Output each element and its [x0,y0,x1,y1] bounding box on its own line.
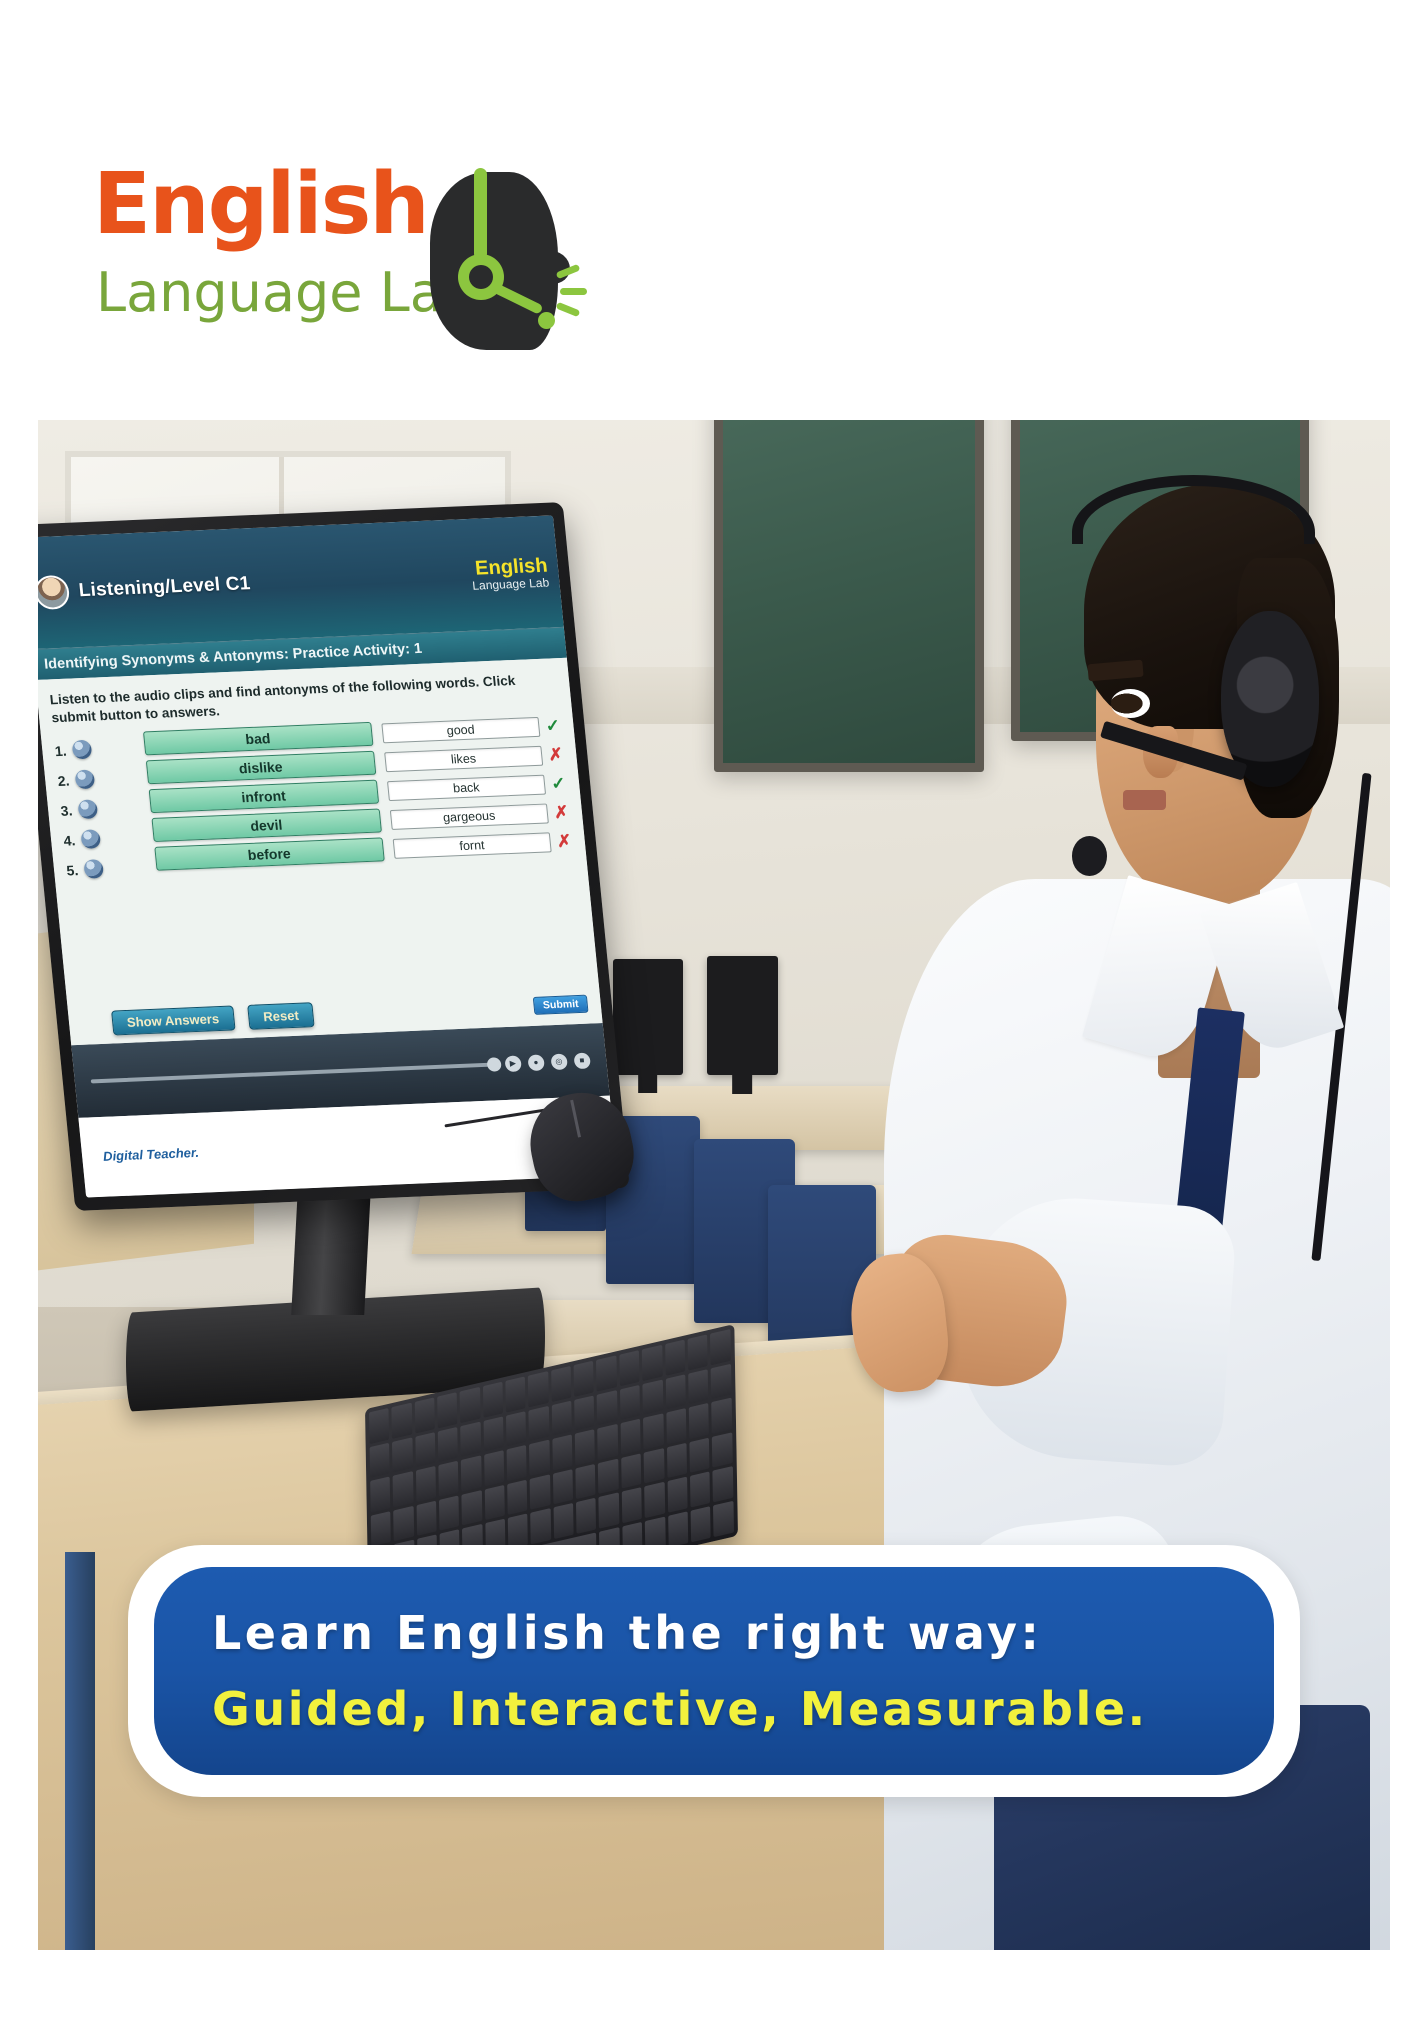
key[interactable] [643,1379,663,1415]
cross-icon: ✗ [556,831,573,852]
headset-headband-icon [1072,475,1315,544]
key[interactable] [530,1474,550,1510]
headset-head-icon [430,172,558,350]
question-number: 5. [66,862,79,878]
key[interactable] [529,1371,549,1407]
key[interactable] [369,1407,389,1443]
key[interactable] [529,1405,549,1441]
key[interactable] [438,1392,458,1428]
show-answers-button[interactable]: Show Answers [111,1006,236,1036]
answer-row: fornt ✗ [392,831,572,858]
key[interactable] [371,1510,391,1546]
key[interactable] [597,1355,617,1391]
key[interactable] [666,1408,686,1444]
prompt-word: before [154,837,384,870]
key[interactable] [645,1482,665,1518]
key[interactable] [370,1442,390,1478]
key[interactable] [439,1460,459,1496]
key[interactable] [393,1437,413,1473]
key[interactable] [393,1471,413,1507]
headset-microphone-icon [1072,836,1107,876]
audio-speaker-icon[interactable] [80,829,101,849]
tagline-banner-wrapper: Learn English the right way: Guided, Int… [128,1545,1300,1797]
app-header: Listening/Level C1 English Language Lab [38,515,564,649]
question-number-column: 1. 2. 3. [53,732,159,1007]
key[interactable] [483,1381,503,1417]
key[interactable] [712,1432,732,1468]
key[interactable] [575,1429,595,1465]
key[interactable] [667,1442,687,1478]
answer-row: back ✓ [387,773,567,800]
key[interactable] [415,1397,435,1433]
tagline-line-2: Guided, Interactive, Measurable. [212,1682,1148,1736]
submit-button[interactable]: Submit [533,994,588,1014]
question-row: 3. [59,794,141,823]
question-area: 1. 2. 3. [53,714,586,1007]
monitor-screen: Listening/Level C1 English Language Lab … [38,515,617,1197]
prompt-word: devil [151,808,381,841]
answer-row: likes ✗ [384,745,564,772]
key[interactable] [531,1508,551,1544]
microphone-icon[interactable]: ◎ [550,1053,568,1070]
key[interactable] [508,1513,528,1549]
key[interactable] [462,1489,482,1525]
poster-root: Listening/Level C1 English Language Lab … [0,0,1428,2028]
key[interactable] [484,1416,504,1452]
key[interactable] [598,1424,618,1460]
question-row: 4. [62,824,144,853]
key[interactable] [712,1397,732,1433]
key[interactable] [553,1434,573,1470]
audio-speaker-icon[interactable] [78,800,99,820]
key[interactable] [620,1350,640,1386]
brand-logo-panel: English Language Lab [38,150,680,418]
question-row: 2. [57,764,139,793]
key[interactable] [462,1455,482,1491]
key[interactable] [554,1503,574,1539]
key[interactable] [576,1463,596,1499]
avatar [38,575,70,610]
key[interactable] [668,1477,688,1513]
key[interactable] [485,1484,505,1520]
answer-row: gargeous ✗ [390,802,570,829]
key[interactable] [506,1376,526,1412]
app-brand-line-2: Language Lab [472,576,550,591]
answer-input[interactable]: fornt [392,832,551,859]
check-icon: ✓ [544,716,561,737]
key[interactable] [622,1487,642,1523]
question-number: 4. [63,832,76,848]
key[interactable] [620,1384,640,1420]
page-title: Listening/Level C1 [78,573,252,602]
question-number: 3. [60,802,73,818]
audio-speaker-icon[interactable] [75,770,96,790]
key[interactable] [688,1334,708,1370]
key[interactable] [577,1498,597,1534]
key[interactable] [691,1506,711,1542]
app-brand-logo: English Language Lab [470,555,552,591]
key[interactable] [530,1439,550,1475]
key[interactable] [714,1500,734,1536]
key[interactable] [438,1426,458,1462]
key[interactable] [599,1492,619,1528]
key[interactable] [507,1410,527,1446]
key[interactable] [371,1476,391,1512]
key[interactable] [508,1479,528,1515]
logo-english-text: English [93,162,428,247]
answer-input[interactable]: good [381,717,540,744]
key[interactable] [575,1395,595,1431]
answer-input[interactable]: likes [384,745,543,772]
record-icon[interactable]: ● [527,1054,545,1071]
audio-progress-slider[interactable] [90,1062,498,1083]
audio-speaker-icon[interactable] [72,740,93,760]
student-lips [1123,790,1166,810]
key[interactable] [460,1386,480,1422]
desk-leg [65,1552,95,1950]
computer-monitor: Listening/Level C1 English Language Lab … [38,502,630,1210]
tagline-banner: Learn English the right way: Guided, Int… [154,1567,1274,1775]
answer-input[interactable]: gargeous [390,803,549,830]
answer-column: good ✓ likes ✗ back ✓ [381,714,586,993]
key[interactable] [553,1468,573,1504]
key[interactable] [690,1437,710,1473]
check-icon: ✓ [550,773,567,794]
key[interactable] [574,1360,594,1396]
key[interactable] [598,1389,618,1425]
question-row: 5. [65,854,147,883]
prompt-word: dislike [146,750,376,783]
key[interactable] [599,1458,619,1494]
prompt-word: infront [148,779,378,812]
tagline-line-1: Learn English the right way: [212,1606,1042,1660]
cross-icon: ✗ [553,802,570,823]
digital-teacher-watermark: Digital Teacher. [102,1145,199,1164]
answer-input[interactable]: back [387,774,546,801]
key[interactable] [439,1495,459,1531]
key[interactable] [394,1505,414,1541]
question-number: 1. [54,742,67,758]
stop-icon[interactable]: ■ [573,1052,591,1069]
cross-icon: ✗ [547,745,564,766]
question-number: 2. [57,772,70,788]
key[interactable] [392,1402,412,1438]
prompt-word-column: bad dislike infront devil before [143,722,398,1004]
audio-speaker-icon[interactable] [83,859,104,879]
key[interactable] [644,1447,664,1483]
play-icon[interactable]: ▶ [504,1055,522,1072]
key[interactable] [484,1450,504,1486]
key[interactable] [507,1445,527,1481]
key[interactable] [416,1431,436,1467]
key[interactable] [689,1368,709,1404]
key[interactable] [621,1418,641,1454]
key[interactable] [642,1344,662,1380]
key[interactable] [551,1365,571,1401]
key[interactable] [711,1329,731,1365]
prompt-word: bad [143,722,373,755]
key[interactable] [711,1363,731,1399]
key[interactable] [666,1374,686,1410]
key[interactable] [552,1400,572,1436]
app-brand-line-1: English [470,555,549,578]
key[interactable] [689,1403,709,1439]
question-row: 1. [54,735,136,764]
reset-button[interactable]: Reset [247,1002,315,1030]
key[interactable] [621,1453,641,1489]
key[interactable] [713,1466,733,1502]
key[interactable] [416,1466,436,1502]
app-body: Listen to the audio clips and find anton… [38,658,602,1046]
key[interactable] [665,1339,685,1375]
key[interactable] [417,1500,437,1536]
key[interactable] [690,1471,710,1507]
key[interactable] [461,1421,481,1457]
logo-language-lab-text: Language Lab [96,266,477,320]
key[interactable] [644,1413,664,1449]
answer-row: good ✓ [381,716,561,743]
monitor-bezel: Listening/Level C1 English Language Lab … [38,502,630,1210]
key[interactable] [668,1511,688,1547]
